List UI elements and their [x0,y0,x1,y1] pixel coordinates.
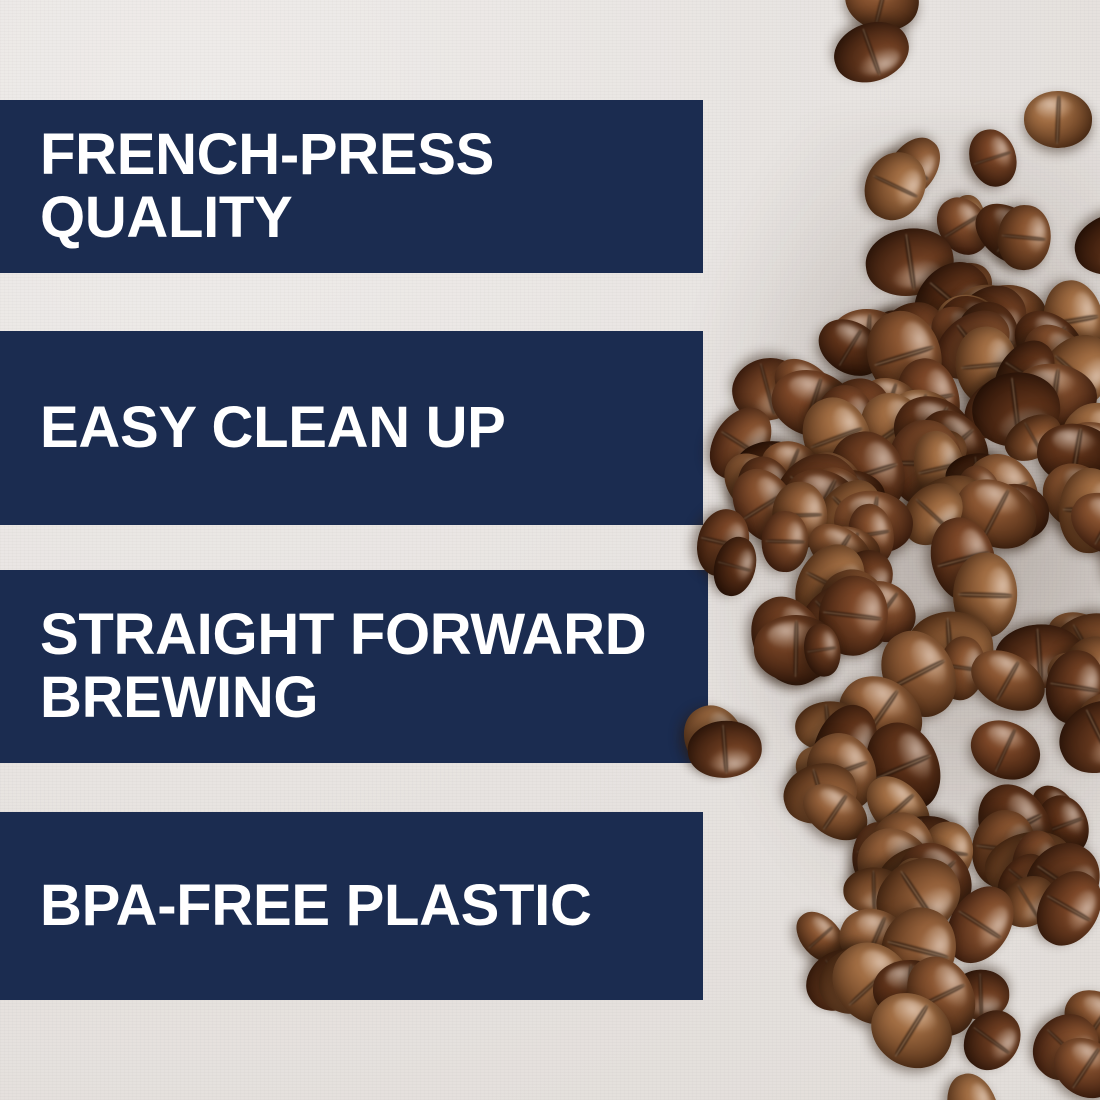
feature-bar-french-press-quality: French-Press Quality [0,100,703,273]
feature-label: French-Press Quality [40,124,494,248]
product-feature-banner: French-Press Quality Easy Clean Up Strai… [0,0,1100,1100]
feature-bar-straight-forward-brewing: Straight Forward Brewing [0,570,708,763]
feature-label: Straight Forward Brewing [40,604,646,728]
feature-bar-bpa-free-plastic: BPA-Free Plastic [0,812,703,1000]
feature-label: Easy Clean Up [40,397,506,459]
feature-bar-easy-clean-up: Easy Clean Up [0,331,703,525]
feature-label: BPA-Free Plastic [40,875,592,937]
